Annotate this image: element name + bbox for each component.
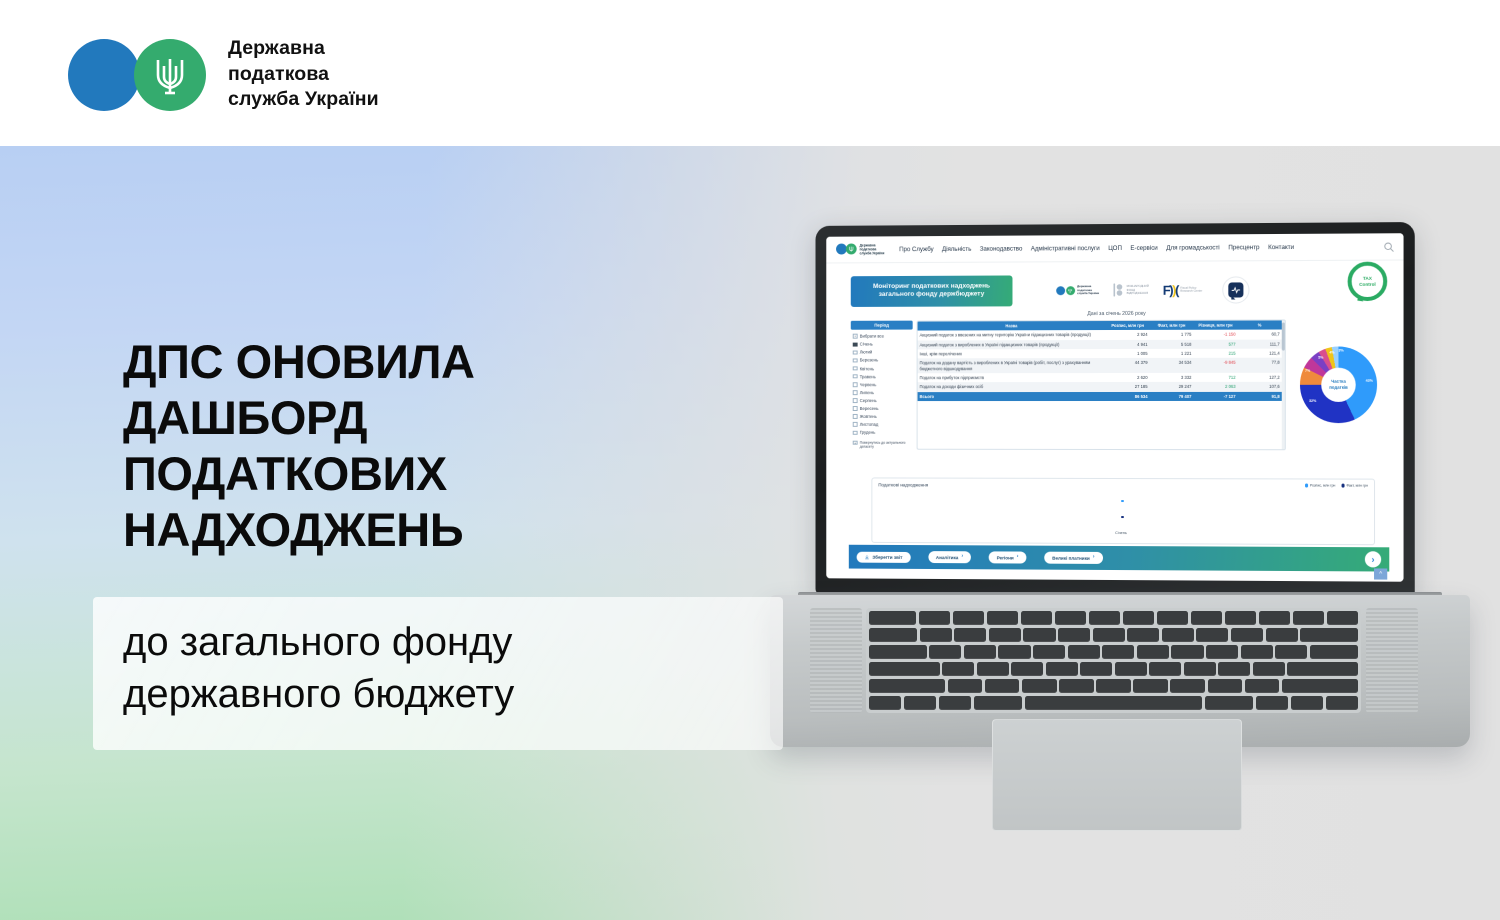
dps-logo: Державна податкова служба України: [68, 36, 379, 113]
keyboard-row-space: [869, 696, 1358, 710]
cell-diff: 577: [1194, 339, 1238, 348]
key[interactable]: [964, 645, 996, 659]
cell-plan: 44 379: [1106, 358, 1150, 373]
col-pct[interactable]: %: [1238, 320, 1282, 330]
key[interactable]: [977, 662, 1009, 676]
nav-item-kontakty[interactable]: Контакти: [1268, 243, 1294, 250]
chart-plot-area[interactable]: Січень: [878, 489, 1368, 535]
table-row[interactable]: Податок на доходи фізичних осіб 27 185 2…: [918, 382, 1282, 392]
key[interactable]: [1184, 662, 1216, 676]
keyboard-row-numbers: [869, 628, 1358, 642]
col-plan[interactable]: Розпис, млн грн: [1106, 321, 1150, 331]
headline-line-2: ДАШБОРД: [123, 390, 475, 446]
page-title: ДПС ОНОВИЛА ДАШБОРД ПОДАТКОВИХ НАДХОДЖЕН…: [123, 334, 475, 558]
tax-revenue-table-panel: Назва Розпис, млн грн Факт, млн грн Різн…: [917, 319, 1286, 450]
partner-logo-dps: Державна податкова служба України: [1056, 285, 1099, 296]
headline-line-4: НАДХОДЖЕНЬ: [123, 502, 475, 558]
key[interactable]: [1171, 645, 1203, 659]
cell-name: Податок на доходи фізичних осіб: [918, 382, 1106, 391]
table-scrollbar[interactable]: [1282, 320, 1285, 449]
partner-logos: Державна податкова служба України: [1056, 276, 1249, 304]
key[interactable]: [1162, 628, 1194, 642]
checkbox-icon[interactable]: [853, 374, 858, 379]
cell-pct: 121,4: [1238, 349, 1282, 358]
key[interactable]: [1253, 662, 1285, 676]
key[interactable]: [1191, 611, 1222, 625]
navbar-links: Про Службу Діяльність Законодавство Адмі…: [899, 243, 1376, 253]
checkbox-icon[interactable]: [853, 342, 858, 347]
subheadline: до загального фонду державного бюджету: [123, 616, 793, 720]
key[interactable]: [1196, 628, 1228, 642]
filter-month-label: Червень: [860, 382, 877, 387]
donut-center-label: Частка податків: [1300, 346, 1377, 423]
tax-revenue-chart-card: Податкові надходження Розпис, млн грн Фа…: [871, 477, 1375, 545]
cell-total-plan: 86 534: [1106, 392, 1150, 401]
subheadline-line-2: державного бюджету: [123, 668, 793, 720]
key[interactable]: [1055, 611, 1086, 625]
cell-fact: 34 534: [1150, 358, 1194, 373]
key[interactable]: [1208, 679, 1243, 693]
period-note: Дані за січень 2026 року: [849, 310, 1389, 318]
filter-month-label: Лютий: [860, 350, 872, 355]
checkbox-icon[interactable]: [853, 414, 858, 419]
filter-month-lypen[interactable]: Липень: [853, 388, 912, 396]
laptop-keyboard[interactable]: [866, 608, 1361, 713]
key[interactable]: [953, 611, 984, 625]
partner-irf-line-3: ВІДРОДЖЕННЯ: [1127, 292, 1149, 296]
partner-dps-text: Державна податкова служба України: [1077, 285, 1099, 296]
key-enter[interactable]: [1287, 662, 1358, 676]
logo-green-trident-icon: [134, 39, 206, 111]
analytics-button[interactable]: Аналітика ›: [928, 551, 971, 563]
key[interactable]: [1059, 679, 1094, 693]
key[interactable]: [1102, 645, 1134, 659]
poster-canvas: ДПС ОНОВИЛА ДАШБОРД ПОДАТКОВИХ НАДХОДЖЕН…: [0, 146, 1500, 920]
key-ctrl[interactable]: [904, 696, 936, 710]
key[interactable]: [869, 628, 917, 642]
key[interactable]: [1170, 679, 1205, 693]
cell-fact: 1 221: [1150, 349, 1194, 358]
cell-pct: 60,7: [1238, 330, 1282, 339]
nav-item-zakonodavstvo[interactable]: Законодавство: [980, 245, 1023, 252]
regions-button[interactable]: Регіони ›: [989, 552, 1027, 564]
key[interactable]: [1259, 611, 1290, 625]
key-arrows[interactable]: [1291, 696, 1323, 710]
cell-pct: 111,7: [1238, 339, 1282, 348]
checkbox-icon[interactable]: [853, 366, 858, 371]
navbar-logo-line-3: служба України: [860, 251, 885, 255]
keyboard-row-asdf: [869, 662, 1358, 676]
key-tab[interactable]: [869, 645, 927, 659]
dashboard-title: Моніторинг податкових надходжень загальн…: [851, 275, 1013, 306]
legend-swatch-fact-icon: [1341, 484, 1344, 487]
filter-month-kviten[interactable]: Квітень: [853, 364, 912, 372]
checkbox-icon[interactable]: [853, 358, 858, 363]
key-space[interactable]: [1025, 696, 1203, 710]
brand-name-line-3: служба України: [228, 87, 379, 113]
chart-point-fact: [1121, 516, 1124, 519]
cell-name: Податок на додану вартість з вироблених …: [918, 358, 1106, 373]
scroll-to-top-button[interactable]: ^: [1374, 568, 1387, 579]
key[interactable]: [1127, 628, 1159, 642]
save-report-label: Зберегти звіт: [872, 554, 902, 559]
cell-plan: 2 620: [1106, 373, 1150, 382]
headline-line-1: ДПС ОНОВИЛА: [123, 334, 475, 390]
partner-fprc-line-2: Research Center: [1180, 290, 1202, 294]
analytics-label: Аналітика: [936, 555, 958, 560]
table-row[interactable]: Податок на прибуток підприємств 2 620 3 …: [918, 373, 1282, 383]
navbar-logo-text: Державна податкова служба України: [860, 243, 885, 255]
filter-month-sichen[interactable]: Січень: [853, 340, 912, 348]
filter-month-hruden[interactable]: Грудень: [853, 429, 912, 437]
next-page-button[interactable]: ›: [1365, 551, 1381, 567]
tax-control-line-1: TAX: [1363, 276, 1372, 281]
cell-fact: 5 518: [1150, 340, 1194, 349]
key[interactable]: [1093, 628, 1125, 642]
cell-total-diff: -7 127: [1194, 392, 1238, 401]
key[interactable]: [987, 611, 1018, 625]
table-scrollbar-thumb[interactable]: [1282, 322, 1285, 350]
site-navbar: Державна податкова служба України Про Сл…: [826, 233, 1403, 263]
checkbox-icon[interactable]: [853, 334, 858, 339]
navbar-logo-trident-icon: [846, 244, 857, 255]
legend-item-plan[interactable]: Розпис, млн грн: [1305, 483, 1335, 487]
partner-dps-blue-icon: [1056, 286, 1065, 295]
cell-plan: 4 941: [1106, 340, 1150, 349]
filter-month-lyutyi[interactable]: Лютий: [853, 348, 912, 356]
col-fact[interactable]: Факт, млн грн: [1150, 321, 1194, 331]
key[interactable]: [1011, 662, 1043, 676]
filter-month-cherven[interactable]: Червень: [853, 380, 912, 388]
key[interactable]: [1327, 611, 1358, 625]
filter-month-zhovten[interactable]: Жовтень: [853, 413, 912, 421]
laptop-speaker-right: [1366, 608, 1418, 713]
key[interactable]: [948, 679, 983, 693]
laptop-screen: Державна податкова служба України Про Сл…: [826, 233, 1403, 582]
checkbox-icon[interactable]: [853, 441, 858, 446]
cell-total-fact: 79 407: [1150, 392, 1194, 401]
chart-legend: Розпис, млн грн Факт, млн грн: [1305, 483, 1368, 487]
key[interactable]: [1293, 611, 1324, 625]
key-arrows[interactable]: [1326, 696, 1358, 710]
cell-diff: -1 150: [1194, 330, 1238, 339]
key[interactable]: [1266, 628, 1298, 642]
tax-share-donut-panel: 43% 32% 7% 5% 4% 3% Частка податків: [1290, 319, 1387, 450]
key[interactable]: [985, 679, 1020, 693]
tax-control-line-2: Control: [1359, 281, 1376, 286]
legend-item-fact[interactable]: Факт, млн грн: [1341, 484, 1368, 488]
filter-select-all[interactable]: Вибрати все: [853, 332, 912, 340]
cell-total-pct: 91,8: [1238, 392, 1282, 401]
key[interactable]: [1046, 662, 1078, 676]
key[interactable]: [1123, 611, 1154, 625]
key-alt-right[interactable]: [1256, 696, 1288, 710]
key[interactable]: [929, 645, 961, 659]
brand-header: Державна податкова служба України: [0, 0, 1500, 146]
key[interactable]: [1089, 611, 1120, 625]
key[interactable]: [1225, 611, 1256, 625]
key[interactable]: [989, 628, 1021, 642]
cell-plan: 2 924: [1106, 330, 1150, 339]
key[interactable]: [1133, 679, 1168, 693]
checkbox-icon[interactable]: [853, 406, 858, 411]
dashboard-panel: Моніторинг податкових надходжень загальн…: [849, 271, 1389, 572]
key[interactable]: [1080, 662, 1112, 676]
laptop-trackpad[interactable]: [992, 719, 1242, 831]
tax-share-donut-chart[interactable]: 43% 32% 7% 5% 4% 3% Частка податків: [1300, 346, 1377, 423]
keyboard-row-zxcv: [869, 679, 1358, 693]
cell-pct: 127,2: [1238, 373, 1282, 382]
key-shift-left[interactable]: [869, 679, 945, 693]
period-filter-header: Період: [851, 320, 913, 329]
cell-fact: 1 775: [1150, 330, 1194, 339]
chat-pulse-icon: [1228, 282, 1243, 297]
checkbox-icon[interactable]: [853, 350, 858, 355]
key[interactable]: [869, 611, 916, 625]
nav-item-e-servisy[interactable]: Е-сервіси: [1130, 244, 1157, 251]
filter-month-label: Березень: [860, 358, 878, 363]
subheadline-line-1: до загального фонду: [123, 616, 793, 668]
cell-total-name: Всього: [918, 392, 1106, 401]
table-row[interactable]: Податок на додану вартість з вироблених …: [918, 358, 1282, 373]
filter-month-berezen[interactable]: Березень: [853, 356, 912, 364]
chart-x-tick-label: Січень: [1115, 531, 1127, 535]
chevron-right-icon: ›: [961, 555, 963, 560]
key[interactable]: [1241, 645, 1273, 659]
dashboard-action-bar: Зберегти звіт Аналітика › Регіони ›: [849, 545, 1389, 572]
cell-name: Акцизний податок з вироблених в Україні …: [918, 340, 1106, 350]
key[interactable]: [1058, 628, 1090, 642]
filter-month-serpen[interactable]: Серпень: [853, 397, 912, 405]
col-name[interactable]: Назва: [918, 321, 1106, 331]
cell-name: Інші, крім перелічених: [918, 349, 1106, 359]
laptop-mockup: Державна податкова служба України Про Сл…: [770, 224, 1500, 920]
filter-month-label: Травень: [860, 374, 876, 379]
legend-label-plan: Розпис, млн грн: [1310, 484, 1335, 488]
filter-month-veresen[interactable]: Вересень: [853, 405, 912, 413]
key[interactable]: [920, 628, 952, 642]
search-icon[interactable]: [1383, 241, 1394, 252]
laptop-lid: Державна податкова служба України Про Сл…: [816, 222, 1415, 598]
key[interactable]: [942, 662, 974, 676]
brand-name-line-2: податкова: [228, 62, 379, 88]
key[interactable]: [1245, 679, 1280, 693]
legend-swatch-plan-icon: [1305, 484, 1308, 487]
headline-line-3: ПОДАТКОВИХ: [123, 446, 475, 502]
cell-pct: 107,6: [1238, 382, 1282, 391]
legend-label-fact: Факт, млн грн: [1346, 484, 1368, 488]
partner-logo-irf: МІЖНАРОДНИЙ ФОНД ВІДРОДЖЕННЯ: [1113, 283, 1149, 297]
brand-name: Державна податкова служба України: [228, 36, 379, 113]
tax-control-label: TAX Control: [1359, 276, 1376, 287]
cell-diff: 215: [1194, 349, 1238, 358]
large-payers-button[interactable]: Великі платники ›: [1044, 552, 1102, 564]
tax-revenue-table: Назва Розпис, млн грн Факт, млн грн Різн…: [918, 320, 1282, 449]
checkbox-icon[interactable]: [853, 382, 858, 387]
cell-name: Акцизний податок з ввезених на митну тер…: [918, 330, 1106, 340]
partner-logo-fprc: F))( Fiscal Policy Research Center: [1163, 282, 1202, 297]
key[interactable]: [998, 645, 1030, 659]
key-shift-right[interactable]: [1282, 679, 1358, 693]
nav-item-tsop[interactable]: ЦОП: [1108, 244, 1122, 251]
checkbox-icon[interactable]: [853, 430, 858, 435]
cell-pct: 77,8: [1238, 358, 1282, 373]
key[interactable]: [954, 628, 986, 642]
filter-month-label: Листопад: [860, 422, 879, 427]
laptop-speaker-left: [810, 608, 862, 713]
chevron-right-icon: ›: [1093, 555, 1095, 560]
key[interactable]: [1137, 645, 1169, 659]
filter-month-label: Січень: [860, 342, 873, 347]
partner-fprc-text: Fiscal Policy Research Center: [1180, 286, 1202, 294]
key[interactable]: [1023, 628, 1055, 642]
reset-dataset-label: Повернутись до актуального датасету: [860, 441, 912, 450]
cell-fact: 3 332: [1150, 373, 1194, 382]
key[interactable]: [919, 611, 950, 625]
filter-month-label: Вересень: [860, 406, 879, 411]
partner-irf-text: МІЖНАРОДНИЙ ФОНД ВІДРОДЖЕННЯ: [1127, 285, 1149, 296]
dashboard-header: Моніторинг податкових надходжень загальн…: [849, 271, 1389, 307]
filter-month-label: Грудень: [860, 430, 876, 435]
chart-point-plan: [1121, 500, 1124, 503]
key[interactable]: [1096, 679, 1131, 693]
reset-dataset-control[interactable]: Повернутись до актуального датасету: [851, 437, 913, 450]
regions-label: Регіони: [997, 555, 1014, 560]
key[interactable]: [1218, 662, 1250, 676]
fprc-mark-icon: F))(: [1163, 283, 1178, 298]
key-backspace[interactable]: [1300, 628, 1358, 642]
table-total-row: Всього 86 534 79 407 -7 127 91,8: [918, 392, 1282, 401]
cell-diff: -9 845: [1194, 358, 1238, 373]
nav-item-pro-sluzhbu[interactable]: Про Службу: [899, 246, 933, 253]
chart-title: Податкові надходження: [878, 482, 928, 487]
filter-month-lystopad[interactable]: Листопад: [853, 421, 912, 429]
chart-header: Податкові надходження Розпис, млн грн Фа…: [878, 482, 1368, 488]
partner-dps-trident-icon: [1066, 286, 1075, 295]
navbar-logo[interactable]: Державна податкова служба України: [836, 243, 884, 255]
cell-diff: 2 063: [1194, 382, 1238, 391]
filter-month-label: Квітень: [860, 366, 874, 371]
cell-fact: 29 247: [1150, 382, 1194, 391]
key[interactable]: [1149, 662, 1181, 676]
cell-plan: 27 185: [1106, 382, 1150, 391]
checkbox-icon[interactable]: [853, 422, 858, 427]
key[interactable]: [1021, 611, 1052, 625]
filter-month-label: Жовтень: [860, 414, 877, 419]
filter-select-all-label: Вибрати все: [860, 334, 884, 339]
period-filter-panel: Період Вибрати все Січень: [851, 320, 913, 449]
checkbox-icon[interactable]: [853, 390, 858, 395]
irf-mark-icon: [1113, 283, 1124, 297]
keyboard-row-function: [869, 611, 1358, 625]
nav-item-dlya-hromadskosti[interactable]: Для громадськості: [1166, 244, 1219, 251]
tax-control-badge[interactable]: TAX Control: [1348, 262, 1388, 302]
filter-month-traven[interactable]: Травень: [853, 372, 912, 380]
filter-month-label: Серпень: [860, 398, 877, 403]
donut-center-line-2: податків: [1329, 384, 1348, 389]
key-capslock[interactable]: [869, 662, 940, 676]
trident-icon-small: [849, 246, 854, 253]
keyboard-row-qwerty: [869, 645, 1358, 659]
dashboard-body: Період Вибрати все Січень: [849, 319, 1389, 450]
key[interactable]: [1068, 645, 1100, 659]
logo-blue-circle-icon: [68, 39, 140, 111]
key[interactable]: [1022, 679, 1057, 693]
key[interactable]: [1033, 645, 1065, 659]
chevron-right-icon: ›: [1017, 555, 1019, 560]
chat-button[interactable]: [1222, 276, 1249, 303]
filter-month-label: Липень: [860, 390, 874, 395]
dps-website: Державна податкова служба України Про Сл…: [826, 233, 1403, 582]
partner-dps-line-3: служба України: [1077, 292, 1099, 296]
checkbox-icon[interactable]: [853, 398, 858, 403]
key-alt[interactable]: [939, 696, 971, 710]
nav-item-diyalnist[interactable]: Діяльність: [942, 245, 971, 252]
key[interactable]: [1275, 645, 1307, 659]
key-cmd-left[interactable]: [974, 696, 1023, 710]
col-diff[interactable]: Різниця, млн грн: [1194, 320, 1238, 330]
key[interactable]: [1206, 645, 1238, 659]
large-payers-label: Великі платники: [1052, 555, 1090, 560]
cell-plan: 1 005: [1106, 349, 1150, 358]
download-icon: [865, 554, 870, 559]
cell-diff: 712: [1194, 373, 1238, 382]
nav-item-prestsentr[interactable]: Пресцентр: [1228, 244, 1259, 251]
key[interactable]: [1310, 645, 1358, 659]
trident-icon: [153, 53, 187, 97]
brand-name-line-1: Державна: [228, 36, 379, 62]
key[interactable]: [1157, 611, 1188, 625]
key-cmd-right[interactable]: [1205, 696, 1254, 710]
key[interactable]: [1115, 662, 1147, 676]
cell-name: Податок на прибуток підприємств: [918, 373, 1106, 382]
save-report-button[interactable]: Зберегти звіт: [857, 551, 911, 562]
key-fn[interactable]: [869, 696, 901, 710]
period-filter-list: Вибрати все Січень Лютий: [851, 330, 913, 437]
key[interactable]: [1231, 628, 1263, 642]
nav-item-admin-posluhy[interactable]: Адміністративні послуги: [1031, 245, 1100, 252]
